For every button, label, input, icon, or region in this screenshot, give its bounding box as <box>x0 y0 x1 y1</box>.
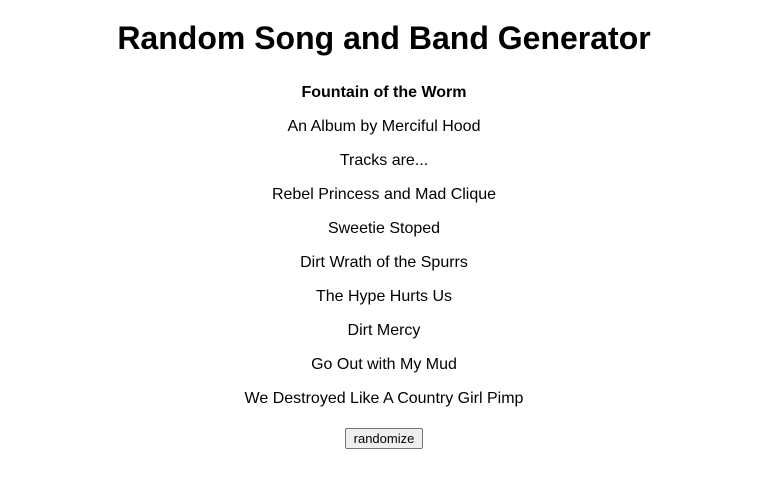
list-item: Dirt Wrath of the Spurrs <box>0 246 768 280</box>
album-byline: An Album by Merciful Hood <box>0 110 768 144</box>
page-title: Random Song and Band Generator <box>0 0 768 54</box>
album-info: Fountain of the Worm An Album by Mercifu… <box>0 76 768 416</box>
button-row: randomize <box>0 428 768 449</box>
list-item: Dirt Mercy <box>0 314 768 348</box>
tracklist: Rebel Princess and Mad Clique Sweetie St… <box>0 178 768 416</box>
list-item: We Destroyed Like A Country Girl Pimp <box>0 382 768 416</box>
list-item: Sweetie Stoped <box>0 212 768 246</box>
randomize-button[interactable]: randomize <box>345 428 424 449</box>
list-item: Go Out with My Mud <box>0 348 768 382</box>
list-item: Rebel Princess and Mad Clique <box>0 178 768 212</box>
list-item: The Hype Hurts Us <box>0 280 768 314</box>
tracks-heading: Tracks are... <box>0 144 768 178</box>
generator-page: Random Song and Band Generator Fountain … <box>0 0 768 449</box>
album-name: Fountain of the Worm <box>0 76 768 110</box>
